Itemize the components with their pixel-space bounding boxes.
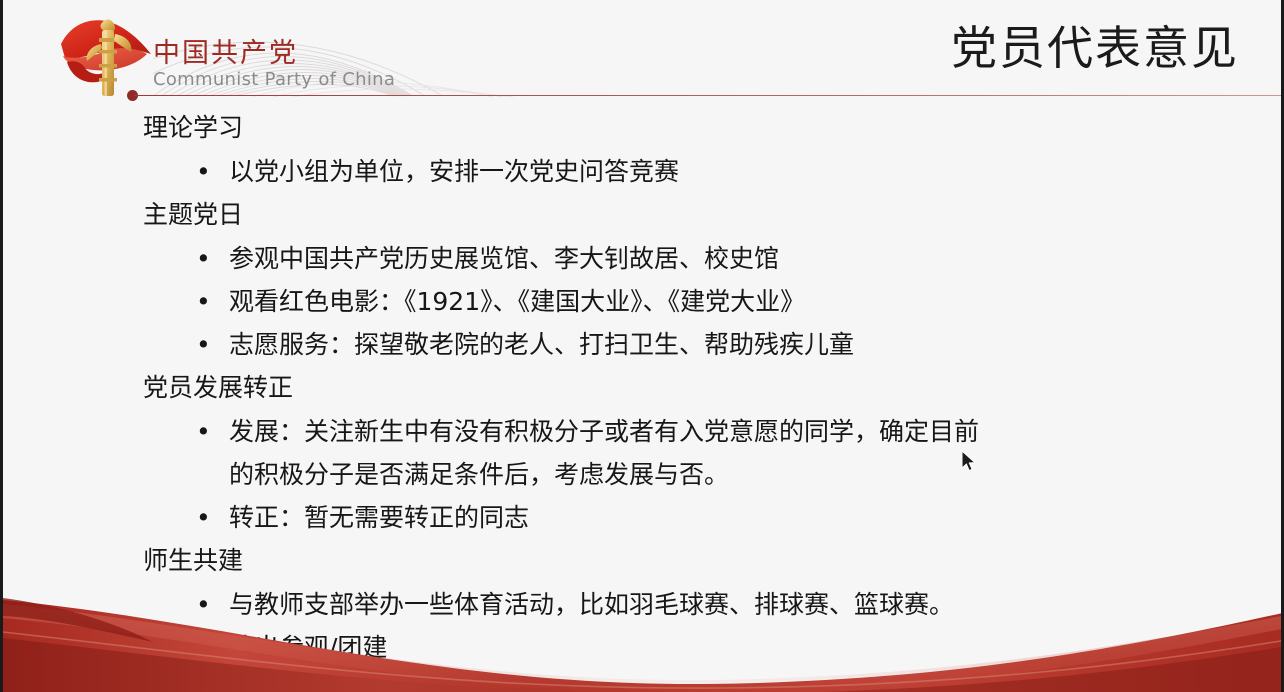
slide-body: 理论学习 • 以党小组为单位，安排一次党史问答竞赛 主题党日 • 参观中国共产党… — [3, 106, 1284, 669]
section-heading: 党员发展转正 — [3, 366, 1284, 410]
brand-block: 中国共产党 Communist Party of China — [153, 40, 395, 89]
page-title: 党员代表意见 — [951, 22, 1239, 74]
bullet-text: 以党小组为单位，安排一次党史问答竞赛 — [196, 150, 679, 193]
bullet-text: 外出参观/团建 — [196, 626, 387, 669]
bullet-item: • 与教师支部举办一些体育活动，比如羽毛球赛、排球赛、篮球赛。 — [3, 583, 1284, 626]
bullet-glyph: • — [196, 583, 211, 626]
bullet-glyph: • — [196, 280, 211, 323]
bullet-item: • 以党小组为单位，安排一次党史问答竞赛 — [3, 150, 1284, 193]
bullet-text: 志愿服务：探望敬老院的老人、打扫卫生、帮助残疾儿童 — [196, 323, 854, 366]
section-heading: 主题党日 — [3, 193, 1284, 237]
slide-header: 中国共产党 Communist Party of China 党员代表意见 — [3, 0, 1284, 100]
section-heading: 师生共建 — [3, 539, 1284, 583]
bullet-text: 观看红色电影：《1921》、《建国大业》、《建党大业》 — [196, 280, 805, 323]
bullet-glyph: • — [196, 626, 211, 669]
bullet-glyph: • — [196, 410, 211, 453]
bullet-item: • 外出参观/团建 — [3, 626, 1284, 669]
bullet-text: 参观中国共产党历史展览馆、李大钊故居、校史馆 — [196, 237, 779, 280]
bullet-item: • 参观中国共产党历史展览馆、李大钊故居、校史馆 — [3, 237, 1284, 280]
bullet-item: • 转正：暂无需要转正的同志 — [3, 496, 1284, 539]
bullet-text: 与教师支部举办一些体育活动，比如羽毛球赛、排球赛、篮球赛。 — [196, 583, 954, 626]
bullet-glyph: • — [196, 150, 211, 193]
brand-name-en: Communist Party of China — [153, 71, 395, 89]
bullet-item: • 发展：关注新生中有没有积极分子或者有入党意愿的同学，确定目前的积极分子是否满… — [3, 410, 1284, 496]
presentation-slide: 中国共产党 Communist Party of China 党员代表意见 理论… — [0, 0, 1284, 692]
bullet-glyph: • — [196, 496, 211, 539]
bullet-item: • 观看红色电影：《1921》、《建国大业》、《建党大业》 — [3, 280, 1284, 323]
section-heading: 理论学习 — [3, 106, 1284, 150]
bullet-text: 转正：暂无需要转正的同志 — [196, 496, 529, 539]
header-rule-line — [134, 95, 1284, 96]
bullet-text: 发展：关注新生中有没有积极分子或者有入党意愿的同学，确定目前的积极分子是否满足条… — [196, 410, 989, 496]
bullet-glyph: • — [196, 237, 211, 280]
bullet-glyph: • — [196, 323, 211, 366]
cpc-flag-torch-emblem-icon — [47, 14, 167, 100]
brand-name-cn: 中国共产党 — [153, 40, 395, 67]
bullet-item: • 志愿服务：探望敬老院的老人、打扫卫生、帮助残疾儿童 — [3, 323, 1284, 366]
